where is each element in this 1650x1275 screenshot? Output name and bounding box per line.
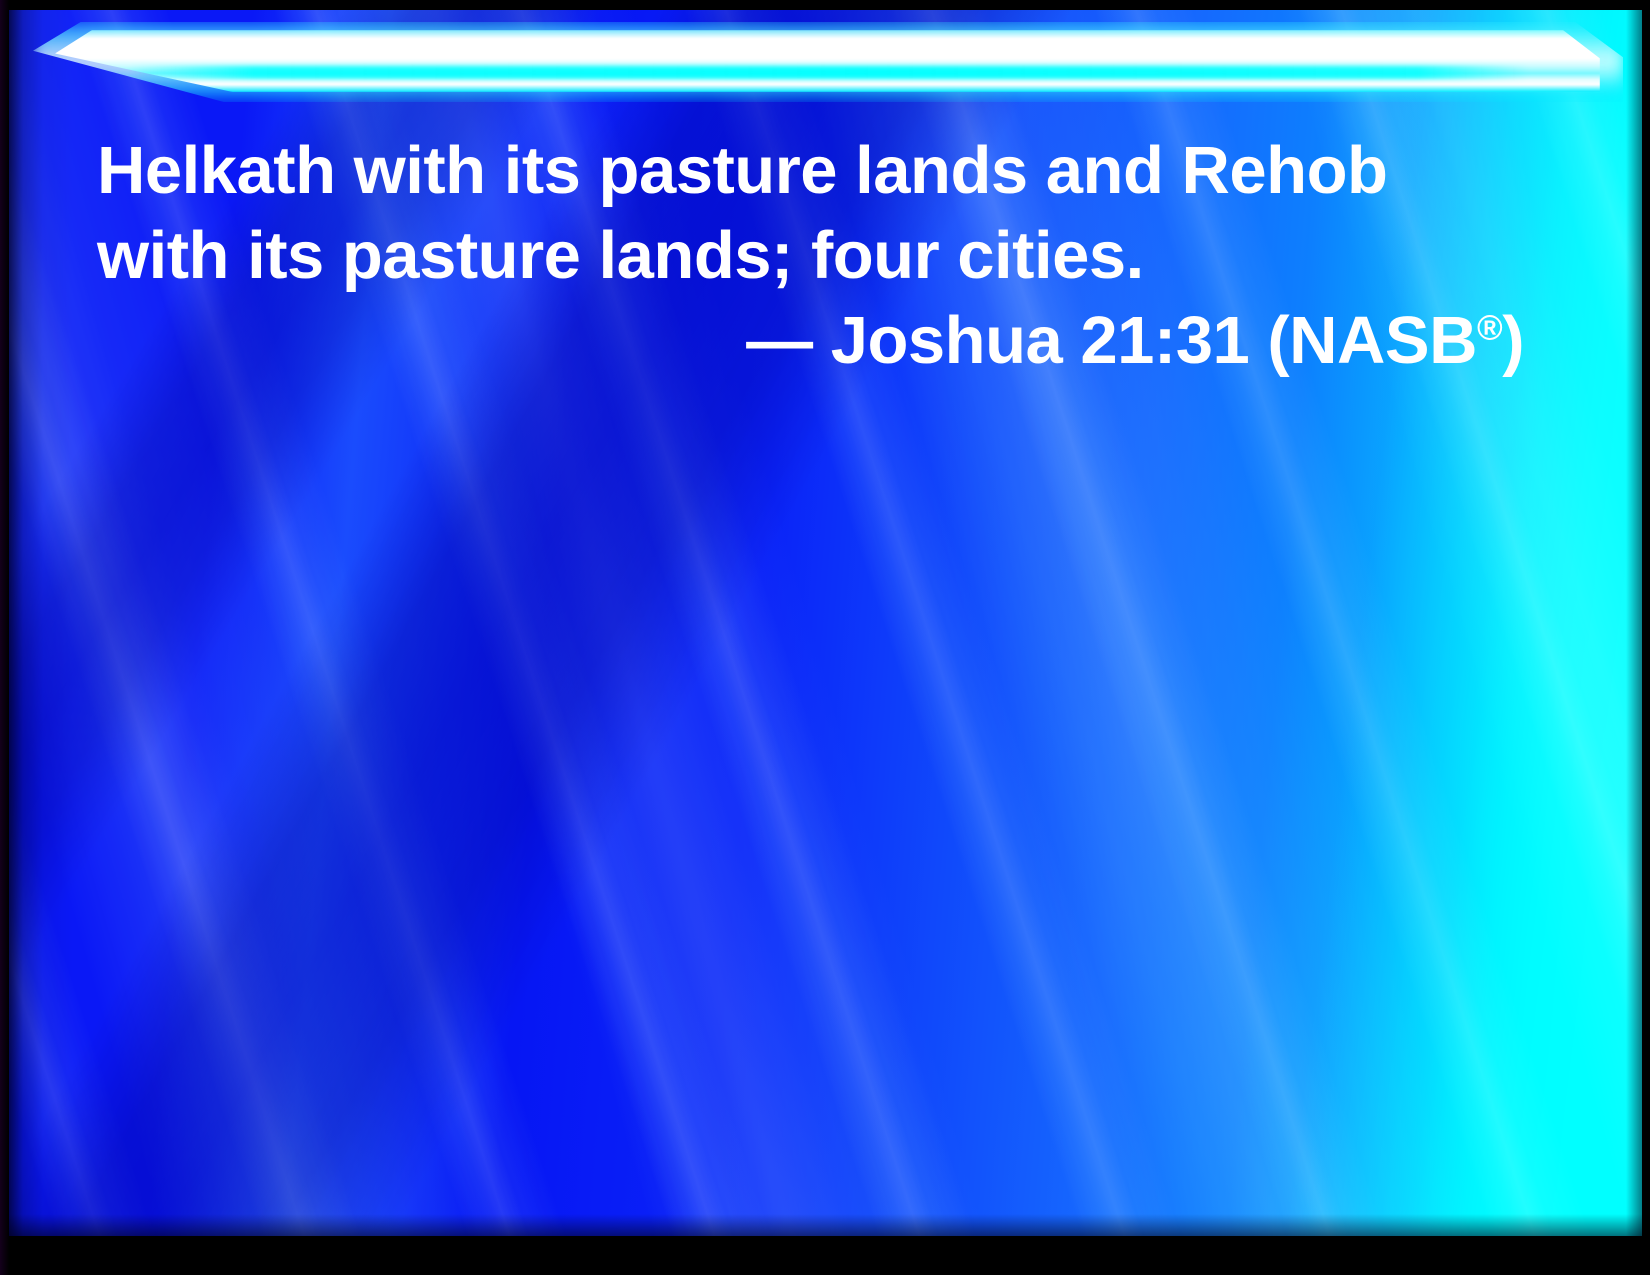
verse-line-2: with its pasture lands; four cities.	[97, 213, 1527, 298]
attribution-prefix: — Joshua 21:31 (NASB	[746, 303, 1477, 378]
verse-text-block: Helkath with its pasture lands and Rehob…	[97, 128, 1527, 383]
top-glow-bar	[55, 30, 1600, 92]
slide-canvas: Helkath with its pasture lands and Rehob…	[9, 10, 1642, 1236]
top-glow-bar-cyan-streak	[129, 66, 1529, 79]
verse-line-1: Helkath with its pasture lands and Rehob	[97, 128, 1527, 213]
slide-frame: Helkath with its pasture lands and Rehob…	[0, 0, 1650, 1275]
verse-attribution: — Joshua 21:31 (NASB®)	[97, 298, 1527, 383]
attribution-suffix: )	[1502, 303, 1524, 378]
registered-trademark-icon: ®	[1477, 309, 1502, 348]
